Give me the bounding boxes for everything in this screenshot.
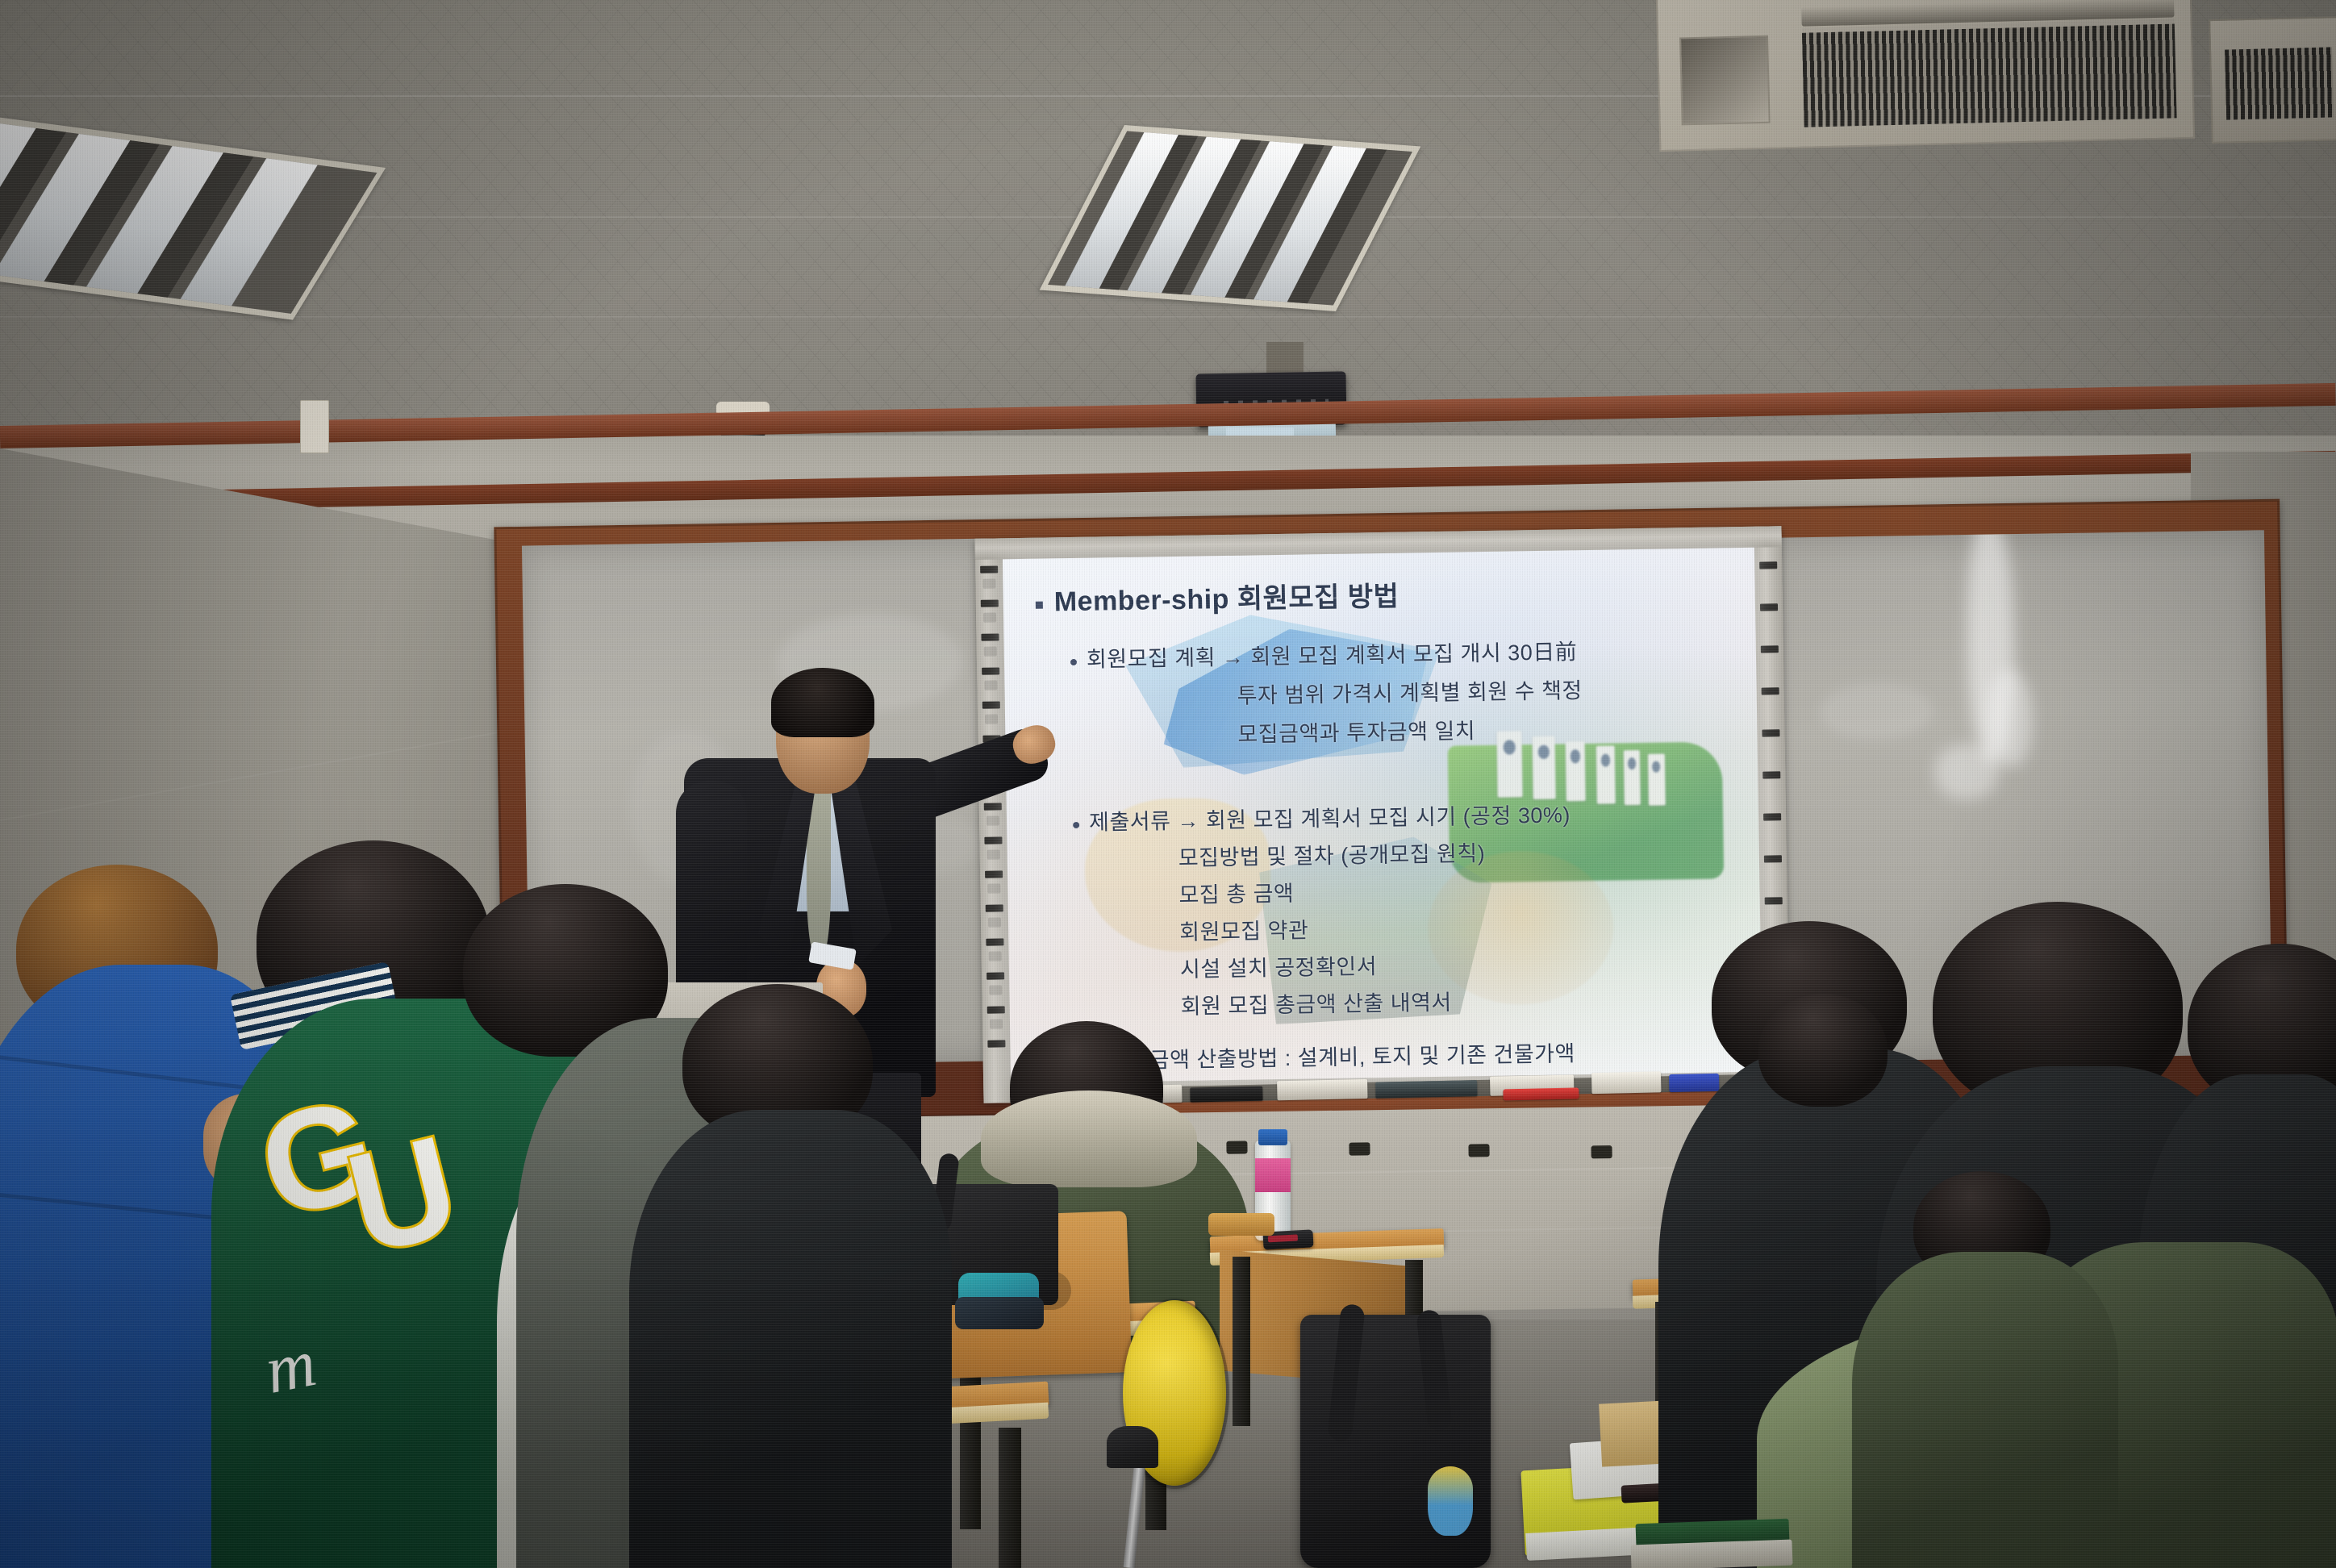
student-black-coat bbox=[629, 1110, 952, 1568]
book-stack[interactable] bbox=[1631, 1540, 1793, 1568]
slide-title-row: Member-ship 회원모집 방법 bbox=[1035, 574, 1399, 619]
slide-title: Member-ship 회원모집 방법 bbox=[1054, 582, 1400, 618]
ceiling-seam bbox=[0, 316, 2336, 318]
desk-leg bbox=[1233, 1257, 1250, 1426]
pouch-dark[interactable] bbox=[955, 1297, 1044, 1329]
bottle-cap[interactable] bbox=[1258, 1129, 1287, 1145]
blue-marker[interactable] bbox=[1669, 1074, 1719, 1092]
wall-socket[interactable] bbox=[1468, 1144, 1489, 1157]
classroom-photo: Member-ship 회원모집 방법 회원모집 계획 → 회원 모집 계획서 … bbox=[0, 0, 2336, 1568]
slide-bullet-icon bbox=[1036, 602, 1043, 609]
red-marker[interactable] bbox=[1503, 1087, 1579, 1100]
slide-bullet-icon bbox=[1073, 822, 1079, 828]
backpack-keychain[interactable] bbox=[1428, 1466, 1473, 1536]
student-olive-parka bbox=[1852, 1252, 2118, 1568]
bottle-label bbox=[1255, 1158, 1291, 1192]
ceiling-ac-unit bbox=[1656, 0, 2195, 152]
slide-line: 회원 모집 총금액 산출 내역서 bbox=[1180, 985, 1452, 1020]
eraser[interactable] bbox=[1591, 1071, 1662, 1094]
pole-handle bbox=[1107, 1426, 1158, 1468]
slide-bullet-icon bbox=[1070, 659, 1077, 665]
interactive-whiteboard[interactable]: Member-ship 회원모집 방법 회원모집 계획 → 회원 모집 계획서 … bbox=[975, 526, 1791, 1103]
slide-line: 모집금액과 투자금액 일치 bbox=[1237, 713, 1475, 749]
slide-line: 모집방법 및 절차 (공개모집 원칙) bbox=[1178, 836, 1485, 872]
slide-line: 모집 총 금액 bbox=[1178, 876, 1294, 909]
slide-line: 투자 범위 가격시 계획별 회원 수 책정 bbox=[1237, 673, 1583, 710]
ac-side-vent bbox=[1679, 35, 1770, 126]
wall-sensor-box bbox=[300, 400, 329, 453]
parka-hood bbox=[981, 1091, 1197, 1187]
wall-socket[interactable] bbox=[1591, 1145, 1612, 1158]
board-eraser[interactable] bbox=[1375, 1080, 1477, 1099]
ac-grille bbox=[1802, 19, 2177, 127]
wall-socket[interactable] bbox=[1226, 1141, 1247, 1153]
wall-socket[interactable] bbox=[1349, 1142, 1370, 1155]
slide-line: 시설 설치 공정확인서 bbox=[1180, 949, 1378, 983]
presenter-hair bbox=[771, 668, 874, 737]
board-eraser[interactable] bbox=[1190, 1086, 1262, 1103]
ceiling-ac-unit-secondary bbox=[2209, 16, 2336, 144]
pencil-case[interactable] bbox=[1208, 1213, 1274, 1236]
slide-line: 회원모집 약관 bbox=[1179, 912, 1309, 946]
student-head bbox=[1758, 994, 1888, 1107]
eraser[interactable] bbox=[1277, 1079, 1367, 1100]
desk-leg bbox=[999, 1428, 1021, 1568]
projected-slide: Member-ship 회원모집 방법 회원모집 계획 → 회원 모집 계획서 … bbox=[1003, 548, 1762, 1084]
